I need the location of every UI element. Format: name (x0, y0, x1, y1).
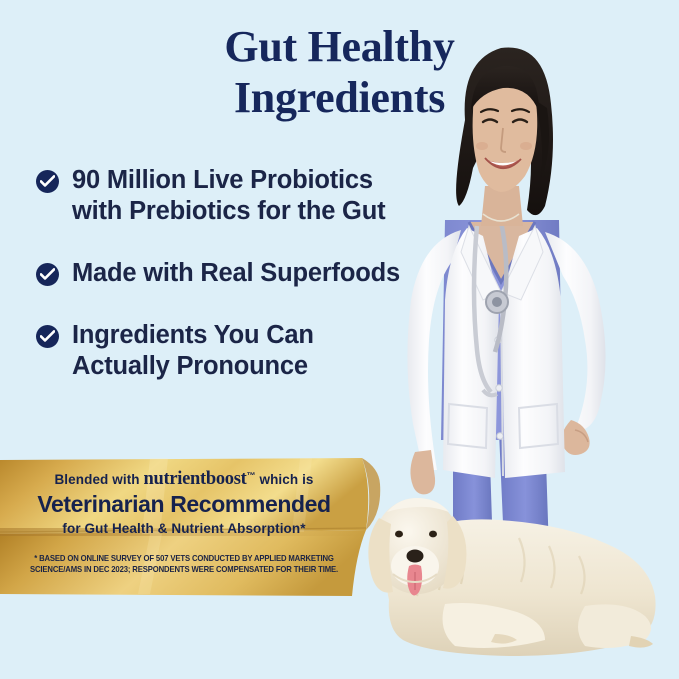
brand-name: nutrientboost (144, 469, 247, 489)
check-circle-icon (36, 170, 59, 193)
list-item: Made with Real Superfoods (36, 258, 456, 289)
list-item-label: 90 Million Live Probiotics with Prebioti… (72, 165, 385, 227)
list-item: Ingredients You Can Actually Pronounce (36, 320, 456, 382)
page-title-line-1: Gut Healthy (224, 22, 454, 71)
banner-disclaimer: * BASED ON ONLINE SURVEY OF 507 VETS CON… (15, 553, 354, 575)
page-title: Gut Healthy Ingredients (0, 22, 679, 123)
banner-copy: Blended with nutrientboost™ which is Vet… (0, 458, 368, 600)
veterinarian-recommended-banner: Blended with nutrientboost™ which is Vet… (0, 458, 392, 600)
list-item: 90 Million Live Probiotics with Prebioti… (36, 165, 456, 227)
page-title-line-2: Ingredients (0, 73, 679, 124)
banner-line-1: Blended with nutrientboost™ which is (0, 469, 368, 490)
promo-graphic: Gut Healthy Ingredients 90 Million Live … (0, 0, 679, 679)
benefit-list: 90 Million Live Probiotics with Prebioti… (36, 165, 456, 414)
banner-subline: for Gut Health & Nutrient Absorption* (0, 521, 368, 536)
list-item-label: Ingredients You Can Actually Pronounce (72, 320, 314, 382)
list-item-label: Made with Real Superfoods (72, 258, 400, 289)
banner-line-1-prefix: Blended with (54, 472, 143, 487)
banner-line-1-suffix: which is (256, 472, 314, 487)
check-circle-icon (36, 325, 59, 348)
check-circle-icon (36, 263, 59, 286)
trademark-symbol: ™ (247, 471, 256, 481)
banner-headline: Veterinarian Recommended (0, 491, 368, 518)
